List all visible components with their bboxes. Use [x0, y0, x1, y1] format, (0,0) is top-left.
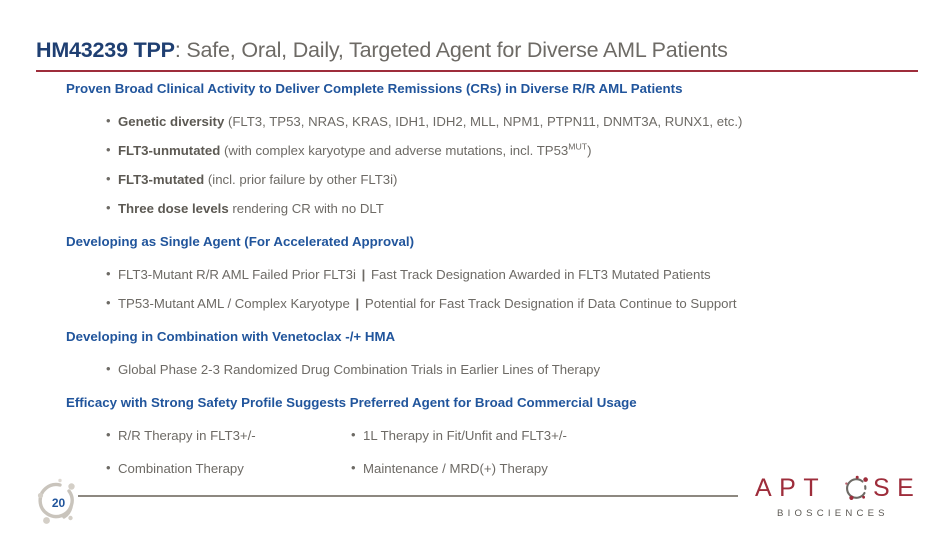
list-item-post: Potential for Fast Track Designation if … [361, 296, 736, 311]
list-item-label: FLT3-Mutant R/R AML Failed Prior FLT3i |… [118, 267, 711, 282]
page-title: HM43239 TPP: Safe, Oral, Daily, Targeted… [36, 38, 916, 63]
logo-subtitle: BIOSCIENCES [777, 508, 889, 519]
list-item: • Global Phase 2-3 Randomized Drug Combi… [106, 362, 950, 377]
list-item-rest: rendering CR with no DLT [229, 201, 384, 216]
list-item-bold-lead: Genetic diversity [118, 114, 224, 129]
two-column-bullet-group: • R/R Therapy in FLT3+/- • Combination T… [0, 428, 950, 476]
list-item: • FLT3-unmutated (with complex karyotype… [106, 143, 950, 158]
list-item: • Genetic diversity (FLT3, TP53, NRAS, K… [106, 114, 950, 129]
logo-o-mark-icon [841, 475, 871, 505]
list-item-label: Genetic diversity (FLT3, TP53, NRAS, KRA… [118, 114, 742, 129]
list-item: • Combination Therapy [106, 461, 351, 476]
list-item-rest: (incl. prior failure by other FLT3i) [204, 172, 397, 187]
logo-wordmark-right: SE [873, 474, 921, 503]
bullet-dot-icon: • [106, 461, 118, 476]
title-body-text: : Safe, Oral, Daily, Targeted Agent for … [175, 38, 728, 62]
list-item-rest: (with complex karyotype and adverse muta… [220, 143, 568, 158]
list-item-bold-lead: FLT3-mutated [118, 172, 204, 187]
list-item-tail: ) [587, 143, 591, 158]
list-item-label: Maintenance / MRD(+) Therapy [363, 461, 548, 476]
list-item-label: Global Phase 2-3 Randomized Drug Combina… [118, 362, 600, 377]
aptose-logo: APT SE BIOSCIENCES [755, 474, 920, 526]
section-header-developing-as-single-agent: Developing as Single Agent (For Accelera… [66, 235, 950, 250]
page-number-badge: 20 [30, 478, 86, 528]
list-item-label: Three dose levels rendering CR with no D… [118, 201, 384, 216]
list-item-bold-lead: FLT3-unmutated [118, 143, 220, 158]
page-number-label: 20 [30, 478, 86, 528]
title-underline-rule [36, 70, 918, 72]
list-item-label: FLT3-unmutated (with complex karyotype a… [118, 143, 592, 158]
bullet-dot-icon: • [106, 296, 118, 311]
superscript-mut: MUT [568, 141, 587, 151]
bullet-column-right: • 1L Therapy in Fit/Unfit and FLT3+/- • … [351, 428, 781, 476]
list-item-label: R/R Therapy in FLT3+/- [118, 428, 256, 443]
list-item-bold-lead: Three dose levels [118, 201, 229, 216]
bullet-dot-icon: • [106, 114, 118, 129]
footer-divider-rule [78, 495, 738, 497]
bullet-column-left: • R/R Therapy in FLT3+/- • Combination T… [106, 428, 351, 476]
section-header-proven-broad-clinical-activity: Proven Broad Clinical Activity to Delive… [66, 82, 950, 97]
bullet-dot-icon: • [106, 428, 118, 443]
slide-body: Proven Broad Clinical Activity to Delive… [0, 82, 950, 476]
bullet-dot-icon: • [106, 172, 118, 187]
section-header-efficacy-strong-safety: Efficacy with Strong Safety Profile Sugg… [66, 396, 950, 411]
bullet-dot-icon: • [106, 143, 118, 158]
logo-wordmark-left: APT [755, 474, 826, 503]
slide: HM43239 TPP: Safe, Oral, Daily, Targeted… [0, 0, 950, 534]
list-item-label: 1L Therapy in Fit/Unfit and FLT3+/- [363, 428, 567, 443]
list-item: • FLT3-Mutant R/R AML Failed Prior FLT3i… [106, 267, 950, 282]
bullet-dot-icon: • [351, 461, 363, 476]
list-item-label: TP53-Mutant AML / Complex Karyotype | Po… [118, 296, 737, 311]
bullet-dot-icon: • [106, 362, 118, 377]
list-item-rest: (FLT3, TP53, NRAS, KRAS, IDH1, IDH2, MLL… [224, 114, 742, 129]
list-item: • Maintenance / MRD(+) Therapy [351, 461, 781, 476]
list-item: • FLT3-mutated (incl. prior failure by o… [106, 172, 950, 187]
list-item-post: Fast Track Designation Awarded in FLT3 M… [367, 267, 710, 282]
list-item: • Three dose levels rendering CR with no… [106, 201, 950, 216]
title-accent-text: HM43239 TPP [36, 38, 175, 62]
bullet-dot-icon: • [106, 201, 118, 216]
list-item-label: Combination Therapy [118, 461, 244, 476]
list-item: • R/R Therapy in FLT3+/- [106, 428, 351, 443]
section-header-developing-in-combination: Developing in Combination with Venetocla… [66, 330, 950, 345]
bullet-dot-icon: • [106, 267, 118, 282]
list-item-label: FLT3-mutated (incl. prior failure by oth… [118, 172, 397, 187]
list-item-pre: FLT3-Mutant R/R AML Failed Prior FLT3i [118, 267, 360, 282]
list-item: • 1L Therapy in Fit/Unfit and FLT3+/- [351, 428, 781, 443]
list-item: • TP53-Mutant AML / Complex Karyotype | … [106, 296, 950, 311]
bullet-dot-icon: • [351, 428, 363, 443]
list-item-pre: TP53-Mutant AML / Complex Karyotype [118, 296, 354, 311]
